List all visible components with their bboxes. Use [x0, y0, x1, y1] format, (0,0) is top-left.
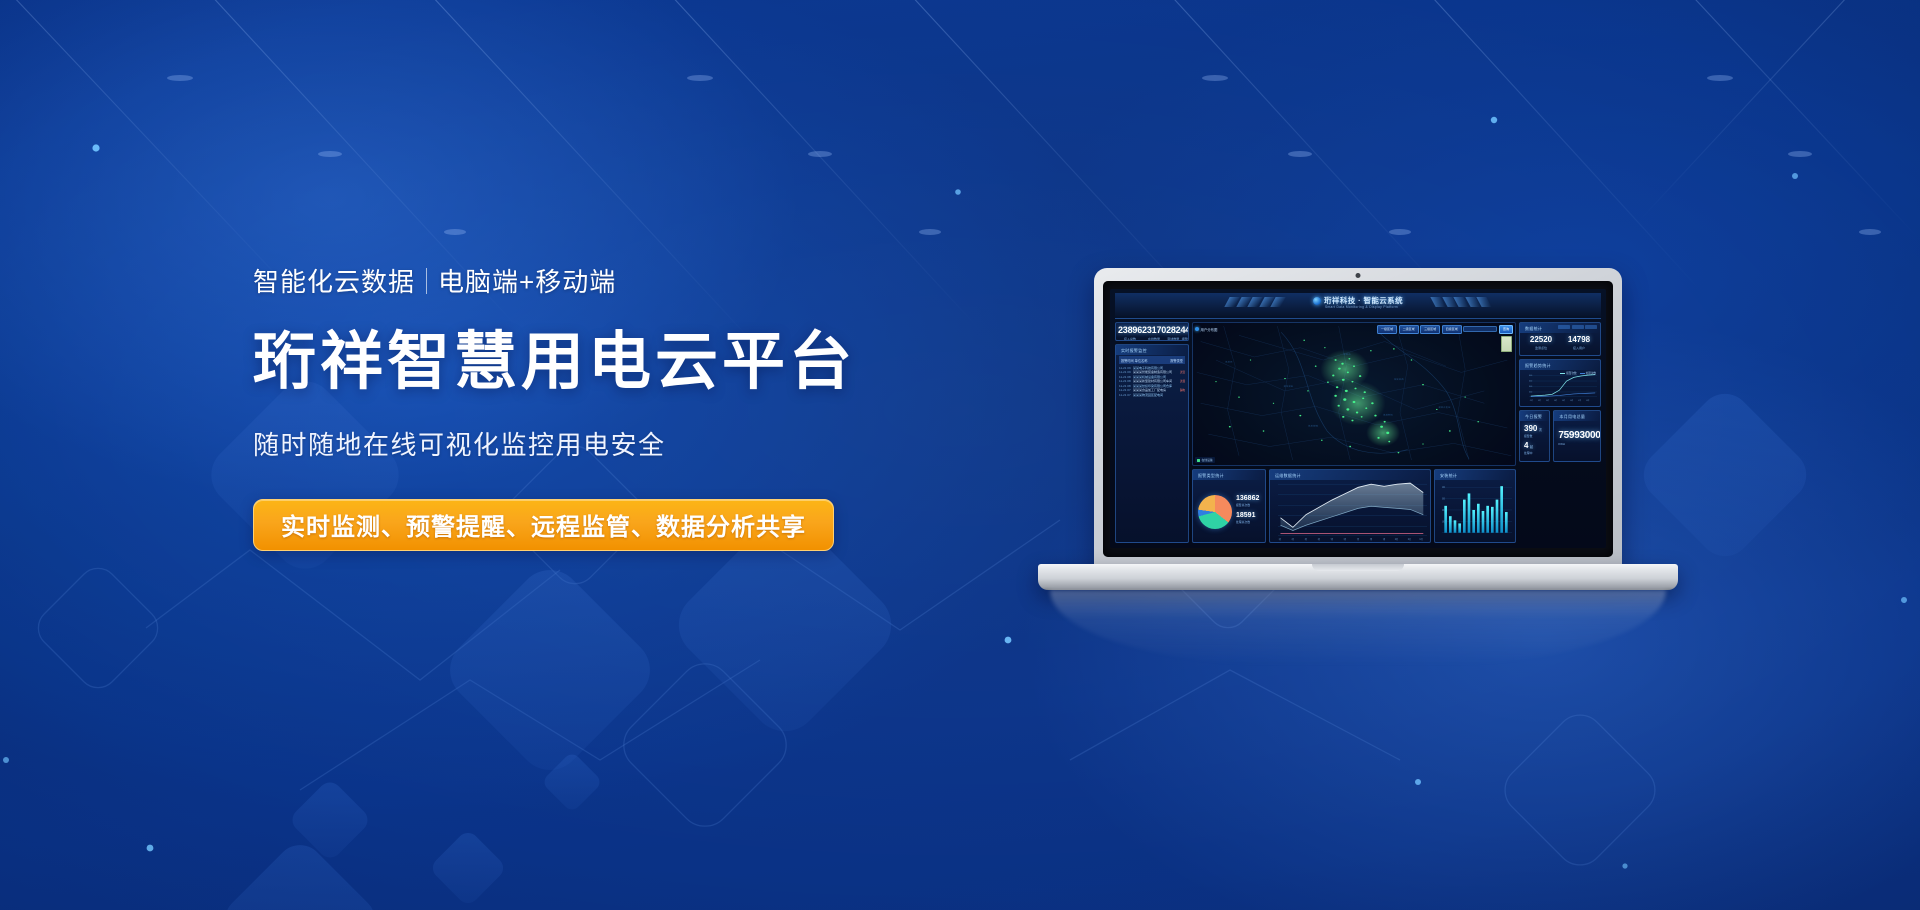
- alarm-list[interactable]: 报警时间 单位名称 报警类型 11-21 09 某某电子科技有限公司: [1116, 355, 1188, 399]
- map-filter-button[interactable]: 三级区域: [1420, 325, 1440, 334]
- svg-text:5000: 5000: [1529, 375, 1532, 377]
- pie-values: 136862 报警总次数 18591 处理总次数: [1232, 495, 1263, 529]
- dashboard-bottom-row: 报警类型统计 136862 报警总次数 18591 处理总次数: [1192, 469, 1516, 543]
- svg-text:03月: 03月: [1546, 399, 1550, 402]
- trend-legend-item: 报警次数: [1560, 371, 1576, 375]
- pie-value: 18591: [1236, 512, 1263, 519]
- pie-value-label: 处理总次数: [1236, 520, 1263, 524]
- pie-value-label: 报警总次数: [1236, 503, 1263, 507]
- svg-text:某某区: 某某区: [1225, 360, 1233, 364]
- svg-text:12月: 12月: [1420, 536, 1423, 541]
- kpi-panel: 23896 接入总数 23170 在线数量 282: [1115, 322, 1189, 341]
- map-pin-icon: [1195, 327, 1199, 331]
- svg-text:某某某区: 某某某区: [1283, 385, 1294, 389]
- today-alarm-secondary-label: 处理中: [1524, 451, 1545, 455]
- alarm-row[interactable]: 11-21 09 某某电子科技有限公司: [1119, 366, 1185, 370]
- alarm-type-pie-chart: [1198, 495, 1232, 529]
- dashboard-center-column: 用户分布图 一级区域 二级区域 三级区域 四级区域 查询: [1192, 322, 1516, 543]
- laptop-lid: 珩祥科技 · 智能云系统 Smart Data Monitoring & Dis…: [1094, 268, 1622, 568]
- area-panel-title: 运维数据统计: [1270, 470, 1430, 480]
- bar-panel: 安装统计: [1434, 469, 1516, 543]
- kpi-value: 282: [1166, 326, 1180, 335]
- month-total-title: 本月用电总量: [1554, 411, 1600, 421]
- alarm-row[interactable]: 11-21 07 某某某食品加工厂配电房 漏电: [1119, 388, 1185, 392]
- svg-text:2月: 2月: [1292, 536, 1294, 541]
- svg-text:某某开发区: 某某开发区: [1438, 406, 1451, 410]
- summary-panel: 数据统计 22520 监测点位 14798 接入用户: [1519, 322, 1601, 356]
- month-total-unit: KWH: [1558, 442, 1596, 446]
- map-qr-code-icon[interactable]: [1501, 336, 1512, 352]
- dashboard-header: 珩祥科技 · 智能云系统 Smart Data Monitoring & Dis…: [1115, 293, 1601, 319]
- map-filter-button[interactable]: 二级区域: [1399, 325, 1419, 334]
- hero-subtitle: 随时随地在线可视化监控用电安全: [253, 425, 1013, 462]
- alarm-tag: 漏电: [1180, 389, 1185, 393]
- ops-area-chart: 1月2月3月 4月5月6月 7月8月9月 10月11月12月: [1278, 480, 1427, 541]
- alarm-name: 某某某纺织印染有限公司仓库: [1133, 384, 1183, 388]
- hero-eyebrow-left: 智能化云数据: [253, 262, 415, 299]
- today-alarm-secondary: 4起: [1524, 442, 1545, 450]
- map-filter-button[interactable]: 四级区域: [1442, 325, 1462, 334]
- kpi-item: 282 离线数量: [1166, 326, 1180, 341]
- eyebrow-divider-icon: [426, 268, 427, 294]
- alarm-row[interactable]: 11-21 08 某某某机械设备有限公司: [1119, 375, 1185, 379]
- map-legend: 在线设备: [1195, 457, 1215, 463]
- dashboard-body: 23896 接入总数 23170 在线数量 282: [1115, 322, 1601, 543]
- today-alarm-primary-unit: 次: [1539, 428, 1542, 432]
- alarm-panel: 实时报警监控 报警时间 单位名称 报警类型 11-21 09 某某电子科技有限公…: [1115, 344, 1189, 543]
- svg-text:08月: 08月: [1586, 399, 1590, 402]
- svg-text:05月: 05月: [1562, 399, 1566, 402]
- header-hatch-right-icon: [1433, 297, 1489, 307]
- pie-value: 136862: [1236, 495, 1263, 502]
- laptop-base: [1038, 564, 1678, 590]
- laptop-bezel: 珩祥科技 · 智能云系统 Smart Data Monitoring & Dis…: [1103, 281, 1613, 557]
- alarm-time: 11-21 08: [1119, 375, 1131, 379]
- alarm-tag: 过载: [1180, 380, 1185, 384]
- alarm-time: 11-21 09: [1119, 366, 1131, 370]
- svg-text:02月: 02月: [1538, 399, 1542, 402]
- trend-legend: 报警次数 处理次数: [1560, 371, 1596, 375]
- hero-cta-button[interactable]: 实时监测、预警提醒、远程监管、数据分析共享: [253, 499, 834, 551]
- svg-text:01月: 01月: [1530, 399, 1534, 402]
- svg-text:3月: 3月: [1305, 536, 1307, 541]
- month-total-value: 75993000: [1558, 431, 1596, 441]
- trend-panel-title: 报警趋势统计: [1520, 360, 1600, 370]
- header-hatch-left-icon: [1227, 297, 1283, 307]
- svg-text:4000: 4000: [1529, 381, 1532, 383]
- dashboard-subtitle: Smart Data Monitoring & Display Platform: [1325, 305, 1398, 309]
- legend-swatch-icon: [1197, 459, 1200, 462]
- map-canvas[interactable]: 某某区某某某区 某某市某某某县 某某开发区某某某镇 某某新区: [1193, 323, 1515, 465]
- trend-chart-wrap: 报警次数 处理次数: [1520, 370, 1600, 406]
- map-search-input[interactable]: [1463, 326, 1497, 332]
- install-bar-chart: 400300 200100: [1442, 481, 1512, 541]
- kpi-item: 444 报警数量: [1180, 326, 1189, 341]
- alarm-panel-title: 实时报警监控: [1116, 345, 1188, 355]
- kpi-label: 在线数量: [1142, 337, 1166, 341]
- svg-text:7月: 7月: [1357, 536, 1359, 541]
- trend-panel: 报警趋势统计 报警次数: [1519, 359, 1601, 407]
- svg-text:06月: 06月: [1570, 399, 1574, 402]
- alarm-name: 某某某机械设备有限公司: [1133, 375, 1183, 379]
- map-panel[interactable]: 用户分布图 一级区域 二级区域 三级区域 四级区域 查询: [1192, 322, 1516, 466]
- dashboard-left-column: 23896 接入总数 23170 在线数量 282: [1115, 322, 1189, 543]
- dashboard-title-block: 珩祥科技 · 智能云系统 Smart Data Monitoring & Dis…: [1313, 295, 1403, 306]
- kpi-value: 23170: [1142, 326, 1166, 335]
- kpi-item: 23170 在线数量: [1142, 326, 1166, 341]
- page-title: 珩祥智慧用电云平台: [253, 330, 1013, 395]
- svg-text:400: 400: [1442, 487, 1446, 489]
- today-alarm-panel: 今日报警 390次 报警数 4起: [1519, 410, 1550, 462]
- map-label-wrap: 用户分布图: [1195, 327, 1217, 332]
- map-filter-group: 一级区域 二级区域 三级区域 四级区域 查询: [1377, 325, 1513, 334]
- kpi-value: 444: [1180, 326, 1189, 335]
- summary-value: 14798: [1560, 336, 1598, 344]
- kpi-label: 接入总数: [1118, 337, 1142, 341]
- laptop-mockup: 珩祥科技 · 智能云系统 Smart Data Monitoring & Dis…: [1038, 268, 1678, 608]
- svg-text:1月: 1月: [1279, 536, 1281, 541]
- hero-copy: 智能化云数据 电脑端+移动端 珩祥智慧用电云平台 随时随地在线可视化监控用电安全…: [253, 262, 1013, 551]
- svg-text:300: 300: [1442, 498, 1446, 500]
- kpi-value: 23896: [1118, 326, 1142, 335]
- alarm-col-1: 报警类型: [1170, 358, 1183, 363]
- dashboard: 珩祥科技 · 智能云系统 Smart Data Monitoring & Dis…: [1110, 289, 1606, 548]
- map-search-button[interactable]: 查询: [1499, 325, 1513, 334]
- map-label: 用户分布图: [1201, 327, 1218, 332]
- today-alarm-title: 今日报警: [1520, 411, 1549, 421]
- bar-chart-wrap: 400300 200100: [1435, 480, 1515, 543]
- kpi-label: 离线数量: [1166, 337, 1180, 341]
- svg-text:某某新区: 某某新区: [1383, 413, 1394, 417]
- bar-panel-title: 安装统计: [1435, 470, 1515, 480]
- kpi-label: 报警数量: [1180, 337, 1189, 341]
- alarm-time: 11-21 07: [1119, 388, 1131, 392]
- svg-text:9月: 9月: [1383, 536, 1385, 541]
- alarm-name: 某某某新型建材有限公司车间: [1133, 379, 1178, 383]
- svg-text:07月: 07月: [1578, 399, 1582, 402]
- today-alarm-primary: 390次: [1524, 425, 1545, 433]
- month-total-panel: 本月用电总量 75993000 KWH: [1553, 410, 1601, 462]
- alarm-row[interactable]: 11-21 08 某某某新型建材有限公司车间 过载: [1119, 379, 1185, 383]
- alarm-time: 11-21 08: [1119, 379, 1131, 383]
- alarm-time: 11-21 09: [1119, 370, 1131, 374]
- alarm-row[interactable]: 11-21 07 某某某物流园区配电间: [1119, 393, 1185, 397]
- area-panel: 运维数据统计: [1269, 469, 1431, 543]
- alarm-trend-chart: 50004000 30002000 01月02月03月 04月05月06月 07…: [1529, 371, 1597, 402]
- today-alarm-secondary-unit: 起: [1530, 445, 1533, 449]
- trend-legend-item: 处理次数: [1580, 371, 1596, 375]
- svg-text:10月: 10月: [1395, 536, 1398, 541]
- hero-eyebrow-right: 电脑端+移动端: [438, 262, 616, 299]
- area-chart-wrap: 1月2月3月 4月5月6月 7月8月9月 10月11月12月: [1270, 480, 1430, 543]
- pie-panel: 报警类型统计 136862 报警总次数 18591 处理总次数: [1192, 469, 1266, 543]
- today-alarm-primary-value: 390: [1524, 424, 1537, 433]
- alarm-name: 某某某食品加工厂配电房: [1133, 388, 1178, 392]
- svg-text:6月: 6月: [1344, 536, 1346, 541]
- summary-value: 22520: [1522, 336, 1560, 344]
- right-stat-row: 今日报警 390次 报警数 4起: [1519, 410, 1601, 462]
- dashboard-right-column: 数据统计 22520 监测点位 14798 接入用户: [1519, 322, 1601, 543]
- alarm-row[interactable]: 11-21 09 某某某智能装备制造有限公司 过温: [1119, 370, 1185, 374]
- svg-text:11月: 11月: [1408, 536, 1411, 541]
- map-toolbar: 用户分布图 一级区域 二级区域 三级区域 四级区域 查询: [1195, 325, 1513, 334]
- kpi-item: 23896 接入总数: [1118, 326, 1142, 341]
- alarm-col-0: 报警时间 单位名称: [1121, 358, 1147, 363]
- pie-panel-title: 报警类型统计: [1193, 470, 1265, 480]
- svg-text:4月: 4月: [1318, 536, 1320, 541]
- summary-cell: 22520 监测点位: [1522, 336, 1560, 350]
- alarm-name: 某某某物流园区配电间: [1133, 393, 1183, 397]
- alarm-name: 某某电子科技有限公司: [1133, 366, 1183, 370]
- alarm-time: 11-21 08: [1119, 384, 1131, 388]
- legend-label: 在线设备: [1202, 458, 1213, 462]
- today-alarm-secondary-value: 4: [1524, 441, 1528, 450]
- alarm-name: 某某某智能装备制造有限公司: [1133, 370, 1178, 374]
- svg-text:8月: 8月: [1370, 536, 1372, 541]
- laptop-screen: 珩祥科技 · 智能云系统 Smart Data Monitoring & Dis…: [1110, 289, 1606, 548]
- svg-text:某某某县: 某某某县: [1394, 377, 1405, 381]
- alarm-tag: 过温: [1180, 371, 1185, 375]
- hero-eyebrow: 智能化云数据 电脑端+移动端: [253, 262, 1013, 299]
- svg-text:3000: 3000: [1529, 386, 1532, 388]
- alarm-time: 11-21 07: [1119, 393, 1131, 397]
- svg-text:2000: 2000: [1529, 392, 1532, 394]
- summary-label: 监测点位: [1522, 346, 1560, 350]
- alarm-row[interactable]: 11-21 08 某某某纺织印染有限公司仓库: [1119, 384, 1185, 388]
- today-alarm-primary-label: 报警数: [1524, 434, 1545, 438]
- summary-label: 接入用户: [1560, 346, 1598, 350]
- svg-text:某某某镇: 某某某镇: [1308, 424, 1319, 428]
- globe-logo-icon: [1313, 297, 1321, 305]
- summary-tabs[interactable]: [1558, 325, 1597, 329]
- map-filter-button[interactable]: 一级区域: [1377, 325, 1397, 334]
- alarm-list-header: 报警时间 单位名称 报警类型: [1119, 356, 1185, 364]
- summary-cell: 14798 接入用户: [1560, 336, 1598, 350]
- svg-text:5月: 5月: [1331, 536, 1333, 541]
- svg-text:04月: 04月: [1554, 399, 1558, 402]
